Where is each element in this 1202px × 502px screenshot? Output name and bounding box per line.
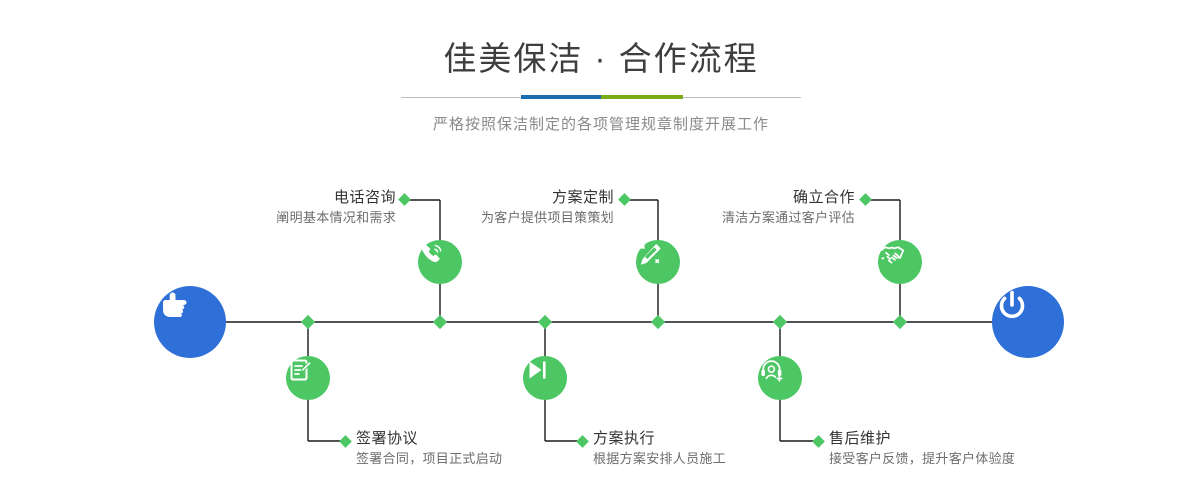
node-desc: 签署合同，项目正式启动 — [356, 449, 502, 469]
node-icon-sign-agreement[interactable] — [286, 356, 330, 400]
node-icon-establish-cooperation[interactable] — [878, 240, 922, 284]
flow-start-endpoint[interactable] — [154, 286, 226, 358]
node-icon-plan-execute[interactable] — [523, 356, 567, 400]
node-title: 签署协议 — [356, 429, 502, 449]
node-label-phone-consult: 电话咨询 阐明基本情况和需求 — [276, 188, 396, 228]
node-title: 电话咨询 — [276, 188, 396, 208]
node-icon-phone-consult[interactable] — [418, 240, 462, 284]
node-title: 方案执行 — [593, 429, 726, 449]
node-icon-after-sales[interactable] — [758, 356, 802, 400]
node-icon-plan-customize[interactable] — [636, 240, 680, 284]
node-desc: 清洁方案通过客户评估 — [722, 208, 855, 228]
node-title: 售后维护 — [829, 429, 1015, 449]
flow-connectors — [0, 0, 1202, 502]
node-title: 方案定制 — [481, 188, 614, 208]
node-desc: 阐明基本情况和需求 — [276, 208, 396, 228]
node-label-establish-cooperation: 确立合作 清洁方案通过客户评估 — [722, 188, 855, 228]
node-label-plan-customize: 方案定制 为客户提供项目策策划 — [481, 188, 614, 228]
flow-end-endpoint[interactable] — [992, 286, 1064, 358]
node-desc: 接受客户反馈，提升客户体验度 — [829, 449, 1015, 469]
node-label-after-sales: 售后维护 接受客户反馈，提升客户体验度 — [829, 429, 1015, 469]
node-title: 确立合作 — [722, 188, 855, 208]
node-label-sign-agreement: 签署协议 签署合同，项目正式启动 — [356, 429, 502, 469]
node-label-plan-execute: 方案执行 根据方案安排人员施工 — [593, 429, 726, 469]
node-desc: 根据方案安排人员施工 — [593, 449, 726, 469]
label-diamond-markers — [339, 193, 872, 448]
process-flow-diagram: 电话咨询 阐明基本情况和需求 签署协议 签署合同，项目正式启动 — [0, 0, 1202, 502]
node-desc: 为客户提供项目策策划 — [481, 208, 614, 228]
